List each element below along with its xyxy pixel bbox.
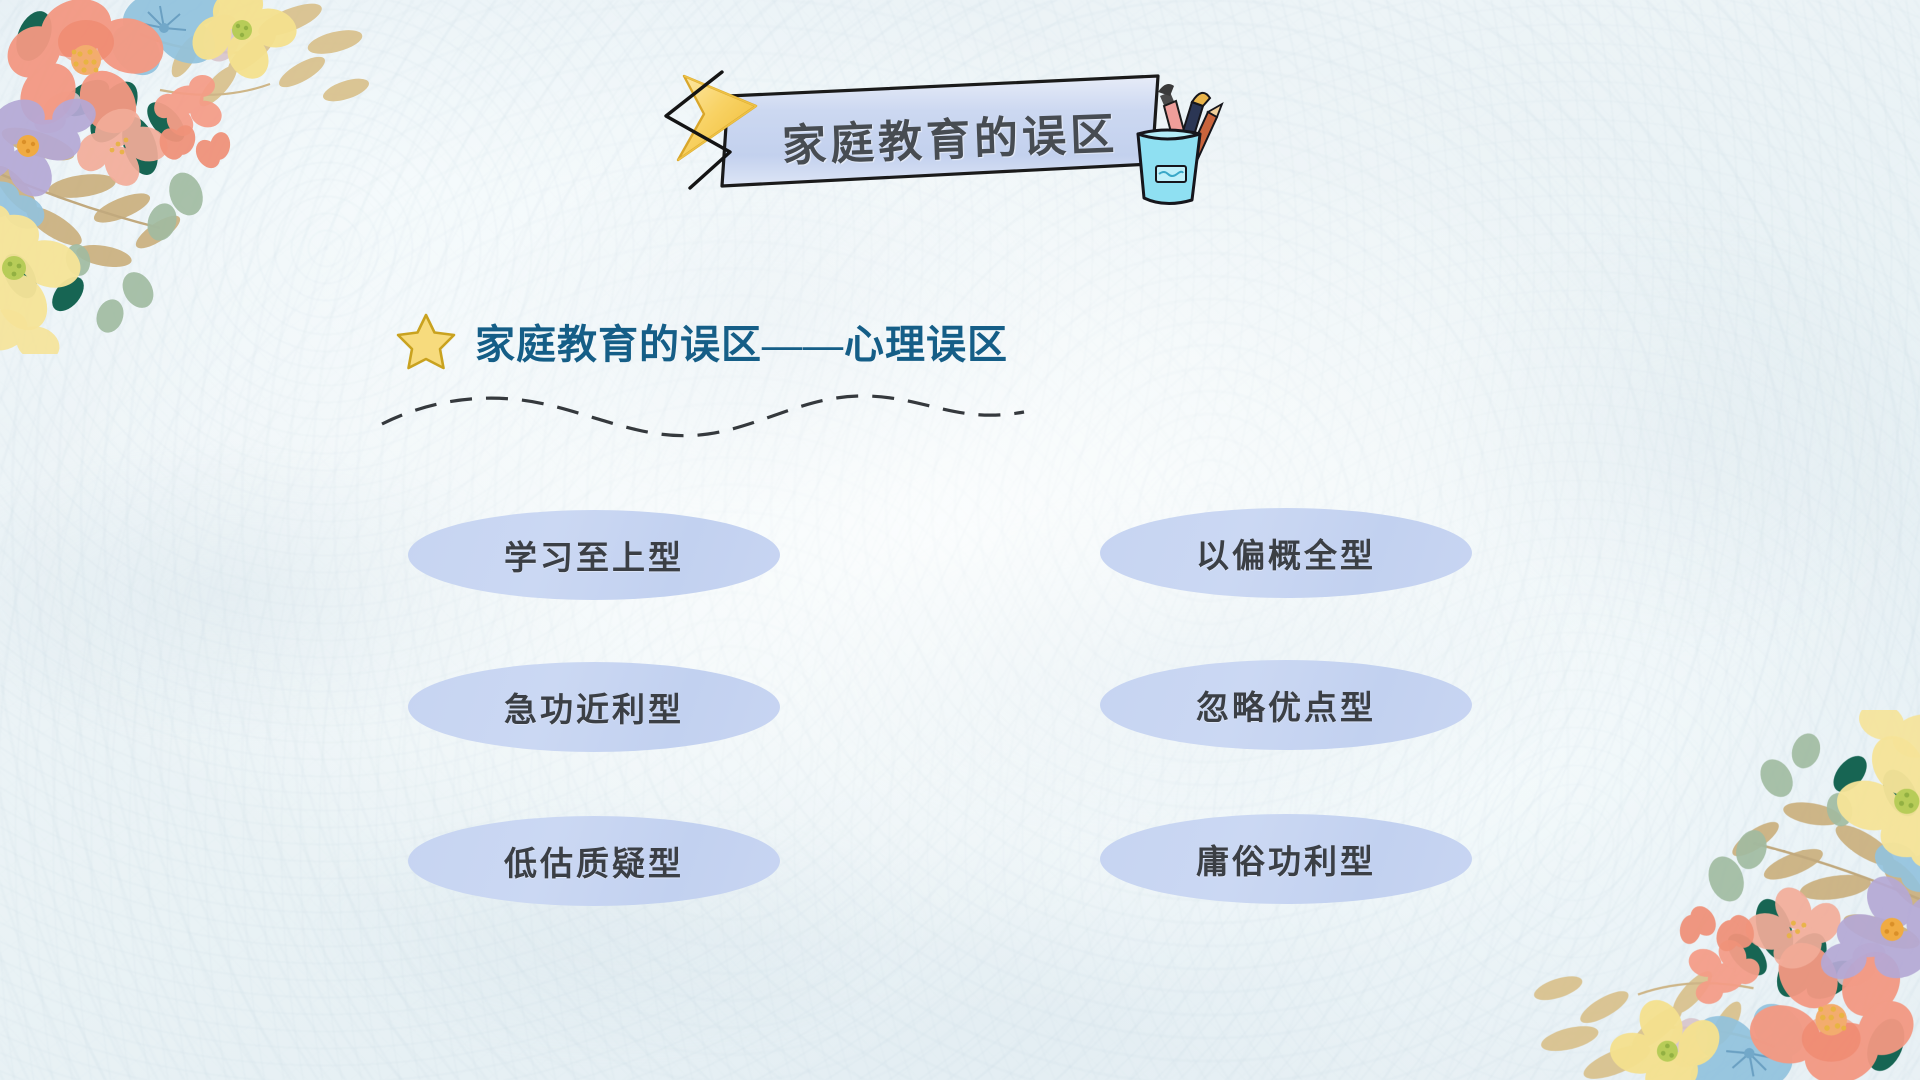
dashed-wave-divider [378,386,1028,438]
pill-left-2[interactable]: 急功近利型 [408,662,780,752]
subtitle-row: 家庭教育的误区——心理误区 [395,310,1008,372]
title-banner: 家庭教育的误区 [660,60,1160,190]
pill-right-2[interactable]: 忽略优点型 [1100,660,1472,750]
pill-left-1[interactable]: 学习至上型 [408,510,780,600]
page-title: 家庭教育的误区 [779,98,1121,174]
pill-left-3[interactable]: 低估质疑型 [408,816,780,906]
pill-right-1[interactable]: 以偏概全型 [1100,508,1472,598]
section-subtitle: 家庭教育的误区——心理误区 [475,312,1008,370]
pen-cup-icon [1108,62,1228,212]
pill-right-3[interactable]: 庸俗功利型 [1100,814,1472,904]
cup-body [1138,130,1200,204]
slide-canvas: 家庭教育的误区 [0,0,1920,1080]
category-pill-grid: 学习至上型 以偏概全型 急功近利型 忽略优点型 低估质疑型 庸俗功利型 [408,487,1518,931]
star-icon [395,310,457,372]
